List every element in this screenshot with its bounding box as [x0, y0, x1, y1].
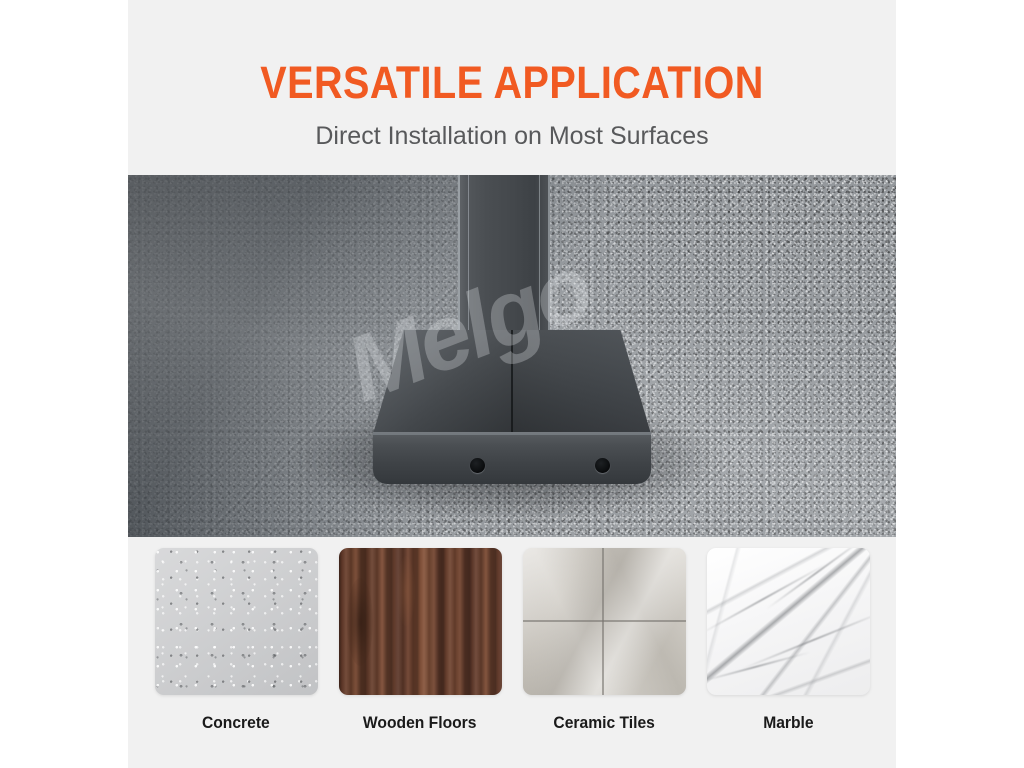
- swatch-label-ceramic-tiles: Ceramic Tiles: [553, 713, 654, 733]
- surface-swatch-row: Concrete Wooden Floors Ceramic Tiles Mar…: [128, 537, 896, 768]
- post-base-skirt-band: [373, 432, 651, 484]
- swatch-item-ceramic-tiles: Ceramic Tiles: [523, 548, 686, 768]
- wood-grain-knot-a: [347, 578, 373, 666]
- bolt-hole-right: [595, 458, 610, 473]
- header-block: VERSATILE APPLICATION Direct Installatio…: [0, 0, 1024, 175]
- page-title: VERSATILE APPLICATION: [61, 0, 962, 109]
- swatch-image-wooden-floors: [339, 548, 502, 695]
- marble-vein-2: [741, 610, 869, 669]
- marble-vein-3: [767, 548, 867, 609]
- swatch-item-marble: Marble: [707, 548, 870, 768]
- swatch-label-marble: Marble: [763, 713, 813, 733]
- bolt-hole-left: [470, 458, 485, 473]
- swatch-item-concrete: Concrete: [155, 548, 318, 768]
- swatch-image-ceramic-tiles: [523, 548, 686, 695]
- swatch-image-concrete: [155, 548, 318, 695]
- swatch-label-wooden-floors: Wooden Floors: [363, 713, 477, 733]
- swatch-image-marble: [707, 548, 870, 695]
- tile-grout-line-vertical: [602, 548, 604, 695]
- swatch-label-concrete: Concrete: [202, 713, 270, 733]
- wood-grain-knot-b: [397, 556, 415, 626]
- hero-product-photo: Melgo: [128, 175, 896, 537]
- page-subtitle: Direct Installation on Most Surfaces: [0, 109, 1024, 151]
- swatch-item-wooden-floors: Wooden Floors: [339, 548, 502, 768]
- marble-vein-1: [707, 563, 829, 635]
- marble-vein-4: [707, 651, 811, 682]
